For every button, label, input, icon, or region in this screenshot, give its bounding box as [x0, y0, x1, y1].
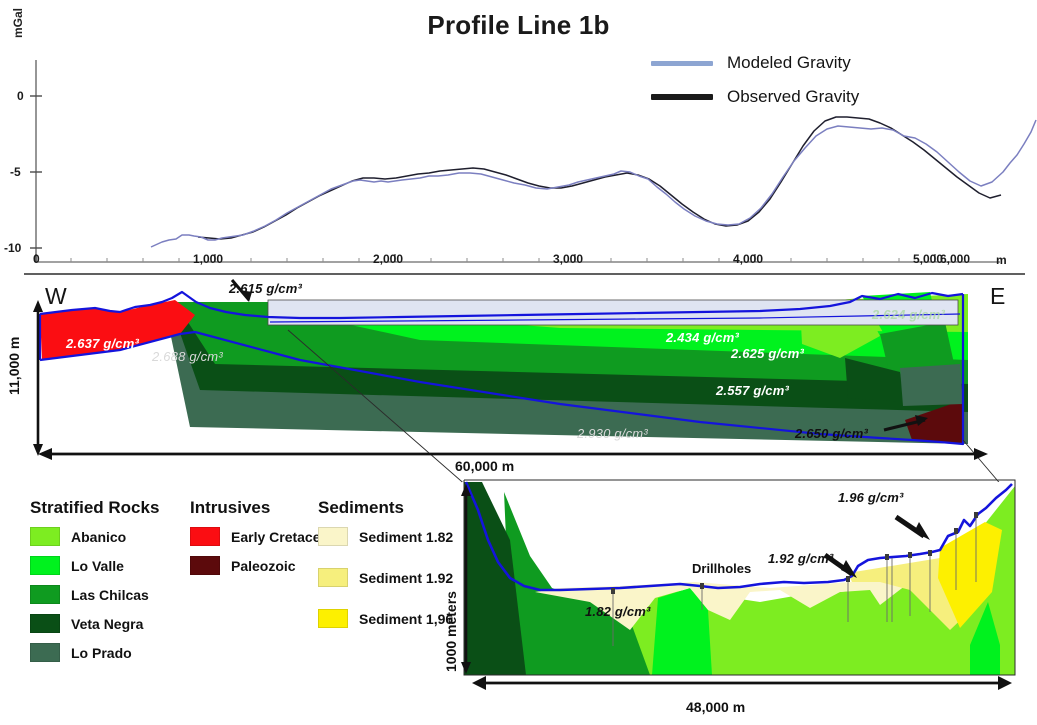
legend-label-las-chilcas: Las Chilcas: [71, 587, 149, 603]
figure-root: Profile Line 1b mGal: [0, 0, 1037, 725]
legend-heading-intrusives: Intrusives: [190, 498, 337, 518]
gravity-legend: Modeled Gravity Observed Gravity: [651, 46, 971, 114]
x-tick-label-2000: 2,000: [373, 252, 403, 266]
legend-item-veta-negra: Veta Negra: [30, 614, 159, 633]
cross-section-diagram: [0, 272, 1037, 487]
y-tick-label-minus10: -10: [4, 241, 21, 255]
inset-basin-diagram: [440, 470, 1037, 725]
density-label-2688-faint: 2.688 g/cm³: [152, 349, 223, 364]
observed-gravity-line-swatch: [651, 94, 713, 100]
density-label-2930-faint: 2.930 g/cm³: [577, 426, 648, 441]
x-tick-label-4000: 4,000: [733, 252, 763, 266]
legend-column-sediments: Sediments Sediment 1.82 Sediment 1.92 Se…: [318, 498, 453, 638]
gravity-chart-svg: [0, 0, 1037, 280]
gravity-plot-panel: Profile Line 1b mGal: [0, 0, 1037, 280]
inset-vertical-scale-label: 1000 meters: [443, 591, 459, 672]
x-major-ticks: [36, 254, 935, 262]
unit-lo-prado-east-block: [900, 364, 963, 406]
inset-horizontal-scale-label: 48,000 m: [686, 699, 745, 715]
inset-density-label-182: 1.82 g/cm³: [585, 604, 651, 619]
swatch-veta-negra: [30, 614, 60, 633]
inset-hscale-arrow-right: [998, 676, 1012, 690]
legend-column-intrusives: Intrusives Early Cretaceus Paleozoic: [190, 498, 337, 585]
swatch-paleozoic: [190, 556, 220, 575]
density-label-2624: 2.624 g/cm³: [872, 307, 945, 322]
modeled-gravity-curve: [151, 120, 1036, 247]
map-legend: Stratified Rocks Abanico Lo Valle Las Ch…: [18, 498, 448, 683]
legend-label-veta-negra: Veta Negra: [71, 616, 143, 632]
swatch-sediment-192: [318, 568, 348, 587]
swatch-las-chilcas: [30, 585, 60, 604]
inset-density-label-196: 1.96 g/cm³: [838, 490, 904, 505]
observed-gravity-curve: [198, 117, 1001, 239]
swatch-early-cretaceus: [190, 527, 220, 546]
legend-label-lo-valle: Lo Valle: [71, 558, 124, 574]
legend-item-lo-prado: Lo Prado: [30, 643, 159, 662]
page-title: Profile Line 1b: [0, 10, 1037, 41]
horizontal-scale-arrow-right: [974, 448, 988, 460]
y-tick-label-minus5: -5: [10, 165, 21, 179]
legend-item-sediment-182: Sediment 1.82: [318, 527, 453, 546]
legend-item-abanico: Abanico: [30, 527, 159, 546]
legend-column-stratified-rocks: Stratified Rocks Abanico Lo Valle Las Ch…: [30, 498, 159, 672]
legend-heading-sediments: Sediments: [318, 498, 453, 518]
inset-hscale-arrow-left: [472, 676, 486, 690]
swatch-lo-prado: [30, 643, 60, 662]
density-label-2615: 2.615 g/cm³: [229, 281, 302, 296]
x-tick-label-5000: 5,000: [913, 252, 943, 266]
drillholes-label: Drillholes: [692, 561, 751, 576]
legend-entry-observed: Observed Gravity: [651, 80, 971, 114]
legend-item-paleozoic: Paleozoic: [190, 556, 337, 575]
legend-label-paleozoic: Paleozoic: [231, 558, 296, 574]
legend-item-lo-valle: Lo Valle: [30, 556, 159, 575]
legend-entry-modeled: Modeled Gravity: [651, 46, 971, 80]
density-label-2557: 2.557 g/cm³: [716, 383, 789, 398]
y-tick-label-0: 0: [17, 89, 24, 103]
legend-item-sediment-196: Sediment 1,96: [318, 609, 453, 628]
legend-label-lo-prado: Lo Prado: [71, 645, 132, 661]
vertical-scale-label: 11,000 m: [6, 337, 22, 395]
x-axis-unit-label: m: [996, 253, 1007, 267]
x-tick-label-1000: 1,000: [193, 252, 223, 266]
swatch-sediment-196: [318, 609, 348, 628]
legend-heading-stratified: Stratified Rocks: [30, 498, 159, 518]
inset-density-label-192: 1.92 g/cm³: [768, 551, 834, 566]
swatch-abanico: [30, 527, 60, 546]
legend-label-abanico: Abanico: [71, 529, 126, 545]
x-tick-label-6000: 6,000: [940, 252, 970, 266]
density-label-2625: 2.625 g/cm³: [731, 346, 804, 361]
density-label-2637: 2.637 g/cm³: [66, 336, 139, 351]
x-tick-label-0: 0: [33, 252, 40, 266]
legend-label-modeled: Modeled Gravity: [727, 53, 851, 73]
y-axis-label: mGal: [11, 8, 25, 38]
vertical-scale-arrow-top: [33, 300, 43, 312]
legend-item-las-chilcas: Las Chilcas: [30, 585, 159, 604]
legend-item-sediment-192: Sediment 1.92: [318, 568, 453, 587]
legend-item-early-cretaceus: Early Cretaceus: [190, 527, 337, 546]
modeled-gravity-line-swatch: [651, 61, 713, 66]
x-tick-label-3000: 3,000: [553, 252, 583, 266]
legend-label-observed: Observed Gravity: [727, 87, 859, 107]
density-label-2650: 2.650 g/cm³: [795, 426, 868, 441]
swatch-sediment-182: [318, 527, 348, 546]
swatch-lo-valle: [30, 556, 60, 575]
density-label-2434: 2.434 g/cm³: [666, 330, 739, 345]
